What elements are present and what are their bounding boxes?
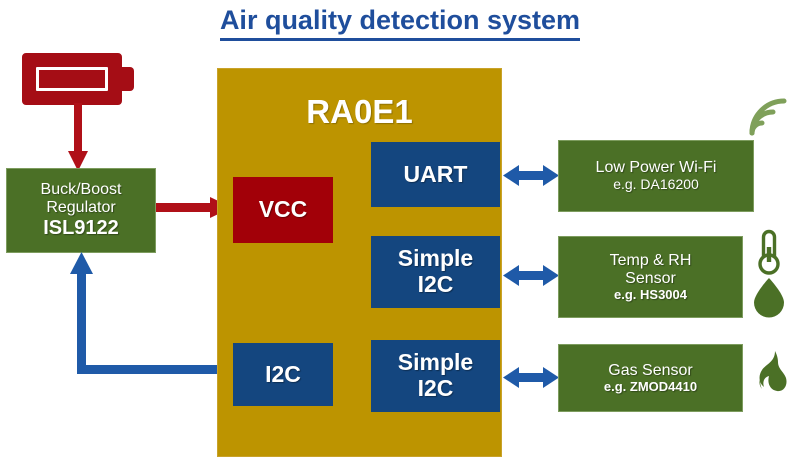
gas-sensor-part-number: e.g. ZMOD4410 xyxy=(604,380,697,395)
mcu-block-simple-i2c-2[interactable]: Simple I2C xyxy=(371,340,500,412)
temp-rh-name-line1: Temp & RH xyxy=(610,252,692,270)
battery-inner xyxy=(36,67,108,91)
simple-i2c-1-line2: I2C xyxy=(418,272,454,298)
gas-sensor-name: Gas Sensor xyxy=(608,362,692,380)
wifi-name: Low Power Wi-Fi xyxy=(596,159,717,177)
temp-rh-part-number: e.g. HS3004 xyxy=(614,288,687,303)
temp-rh-name-line2: Sensor xyxy=(625,270,676,288)
wifi-signal-icon xyxy=(748,99,792,139)
peripheral-temp-rh-sensor[interactable]: Temp & RH Sensor e.g. HS3004 xyxy=(558,236,743,318)
simple-i2c-2-line2: I2C xyxy=(418,376,454,402)
mcu-chip-label: RA0E1 xyxy=(218,93,501,131)
mcu-block-i2c[interactable]: I2C xyxy=(233,343,333,406)
peripheral-low-power-wifi[interactable]: Low Power Wi-Fi e.g. DA16200 xyxy=(558,140,754,212)
arrow-i2c-to-regulator xyxy=(66,252,234,382)
simple-i2c-2-line1: Simple xyxy=(398,350,473,376)
wifi-part-number: e.g. DA16200 xyxy=(613,177,699,193)
mcu-block-simple-i2c-1[interactable]: Simple I2C xyxy=(371,236,500,308)
battery-shell xyxy=(22,53,122,105)
arrow-uart-to-wifi xyxy=(503,164,559,188)
diagram-canvas: Air quality detection system Buck/Boost … xyxy=(0,0,800,458)
peripheral-gas-sensor[interactable]: Gas Sensor e.g. ZMOD4410 xyxy=(558,344,743,412)
battery-terminal xyxy=(121,67,134,91)
arrow-simple-i2c-1-to-temp-rh xyxy=(503,264,559,288)
simple-i2c-1-line1: Simple xyxy=(398,246,473,272)
thermometer-icon xyxy=(752,231,784,277)
i2c-label: I2C xyxy=(265,362,301,388)
page-title-text: Air quality detection system xyxy=(220,5,580,41)
regulator-line1: Buck/Boost xyxy=(41,181,122,199)
mcu-block-uart[interactable]: UART xyxy=(371,142,500,207)
mcu-block-vcc[interactable]: VCC xyxy=(233,177,333,243)
regulator-line2: Regulator xyxy=(46,199,115,217)
regulator-part-number: ISL9122 xyxy=(43,217,119,239)
uart-label: UART xyxy=(404,162,468,188)
water-droplet-icon xyxy=(752,277,786,315)
arrow-simple-i2c-2-to-gas-sensor xyxy=(503,366,559,390)
buck-boost-regulator-block[interactable]: Buck/Boost Regulator ISL9122 xyxy=(6,168,156,253)
page-title: Air quality detection system xyxy=(0,5,800,41)
vcc-label: VCC xyxy=(259,197,308,223)
battery-icon xyxy=(22,53,134,105)
arrow-battery-to-regulator xyxy=(68,103,94,173)
flame-icon xyxy=(754,350,788,400)
